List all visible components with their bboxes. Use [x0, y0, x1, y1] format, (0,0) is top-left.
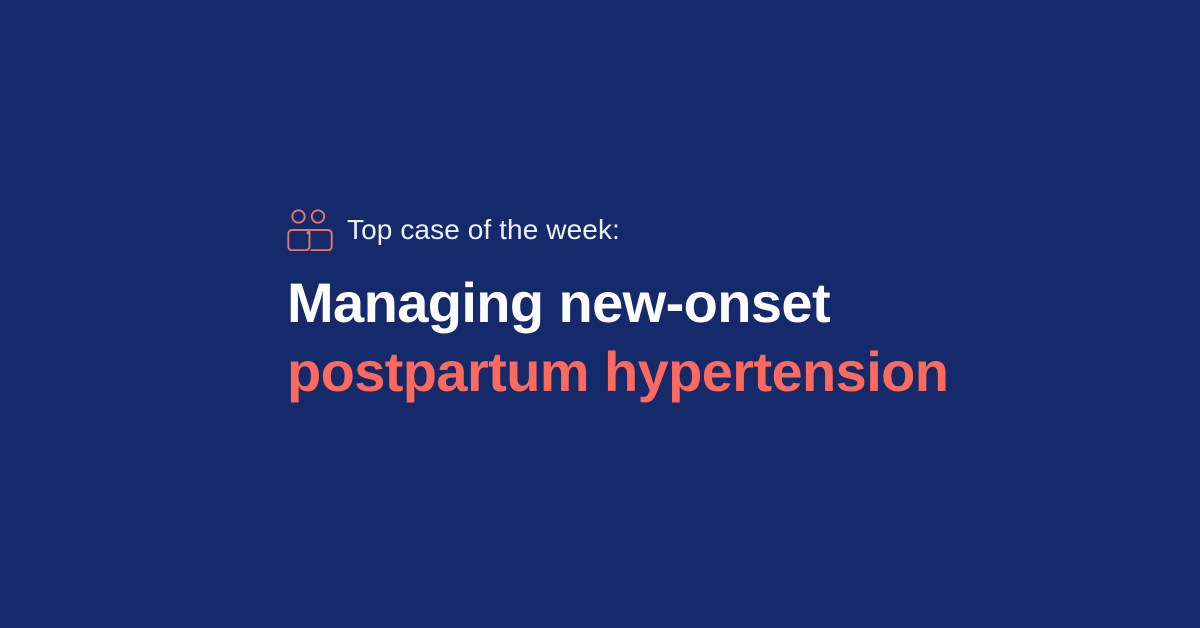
headline-line-2: postpartum hypertension	[287, 337, 1047, 406]
eyebrow-label: Top case of the week:	[347, 216, 620, 244]
card-content: Top case of the week: Managing new-onset…	[287, 208, 1047, 407]
promo-card: Top case of the week: Managing new-onset…	[0, 0, 1200, 628]
headline-line-1: Managing new-onset	[287, 268, 1047, 337]
page-title: Managing new-onset postpartum hypertensi…	[287, 268, 1047, 407]
group-people-icon	[287, 209, 333, 251]
eyebrow-row: Top case of the week:	[287, 208, 1047, 252]
